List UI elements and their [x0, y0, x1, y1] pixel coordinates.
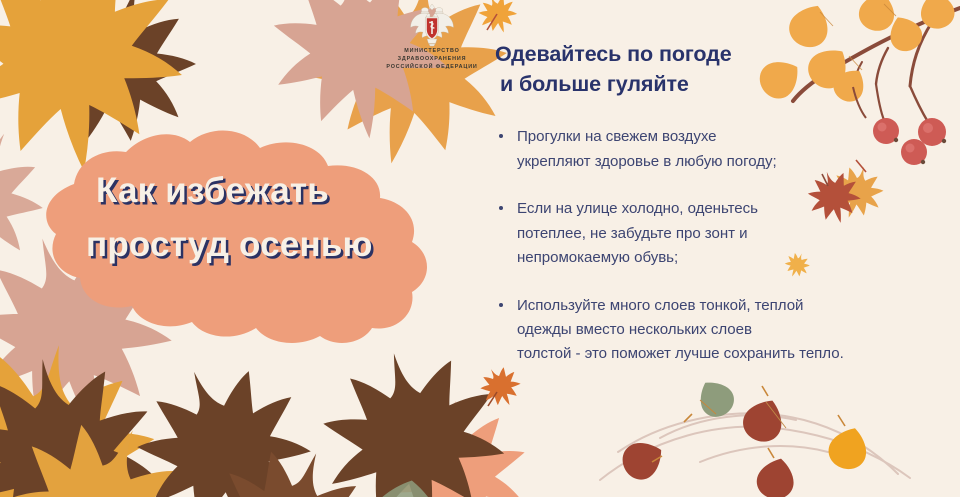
title-line-2: простуд осенью [58, 218, 448, 272]
logo-caption-line-2: ЗДРАВООХРАНЕНИЯ [376, 56, 488, 64]
title-line-1: Как избежать [58, 164, 448, 218]
maple-leaf-brown-bottom-center [312, 338, 516, 497]
list-item: Используйте много слоев тонкой, теплой о… [495, 294, 945, 367]
title-block: Как избежать простуд осенью [40, 118, 460, 348]
bullet-line: Используйте много слоев тонкой, теплой [517, 294, 945, 318]
maple-leaf-golden-bottom-left-2 [0, 393, 217, 497]
logo-caption-line-3: РОССИЙСКОЙ ФЕДЕРАЦИИ [376, 64, 488, 72]
ministry-logo: МИНИСТЕРСТВО ЗДРАВООХРАНЕНИЯ РОССИЙСКОЙ … [376, 3, 488, 71]
russian-double-headed-eagle-emblem [409, 3, 455, 47]
wind-swirl-lines-bottom-right [600, 413, 910, 480]
maple-leaf-golden-bottom-left [0, 323, 172, 497]
bullet-dot-icon [499, 134, 503, 138]
bullet-dot-icon [499, 206, 503, 210]
list-item: Прогулки на свежем воздухе укрепляют здо… [495, 125, 945, 174]
list-item: Если на улице холодно, оденьтесь потепле… [495, 197, 945, 270]
bullet-line: непромокаемую обувь; [517, 246, 945, 270]
leaf-sage-bottom-right [684, 373, 740, 423]
bullet-line: потеплее, не забудьте про зонт и [517, 222, 945, 246]
autumn-health-poster: Как избежать простуд осенью [0, 0, 960, 497]
maple-leaf-brown-bottom-left [0, 349, 164, 497]
leaf-yellow-bottom-right [824, 415, 873, 474]
bullet-line: Если на улице холодно, оденьтесь [517, 197, 945, 221]
headline: Одевайтесь по погоде и больше гуляйте [495, 40, 945, 99]
headline-line-2: и больше гуляйте [495, 70, 945, 100]
maple-leaf-sage-bottom-center [360, 474, 449, 497]
leaf-rust-bottom-right-3 [753, 448, 799, 497]
page-title: Как избежать простуд осенью [58, 164, 448, 273]
leaf-rust-bottom-right-2 [616, 434, 669, 486]
leaf-rust-bottom-right-1 [737, 386, 790, 448]
maple-leaf-brown-bottom-center-2 [186, 425, 392, 497]
content-column: Одевайтесь по погоде и больше гуляйте Пр… [495, 40, 945, 367]
bullet-line: толстой - это поможет лучше сохранить те… [517, 342, 945, 366]
logo-caption-line-1: МИНИСТЕРСТВО [376, 48, 488, 56]
bullet-dot-icon [499, 303, 503, 307]
bullet-line: одежды вместо нескольких слоев [517, 318, 945, 342]
ministry-logo-caption: МИНИСТЕРСТВО ЗДРАВООХРАНЕНИЯ РОССИЙСКОЙ … [376, 48, 488, 71]
maple-leaf-small-orange-bottom-center [474, 360, 526, 413]
maple-leaf-orange-bottom-center [377, 396, 530, 497]
bullet-line: Прогулки на свежем воздухе [517, 125, 945, 149]
bullet-line: укрепляют здоровье в любую погоду; [517, 150, 945, 174]
maple-leaf-brown-bottom-left-2 [119, 345, 330, 497]
headline-line-1: Одевайтесь по погоде [495, 40, 945, 70]
advice-bullet-list: Прогулки на свежем воздухе укрепляют здо… [495, 125, 945, 367]
